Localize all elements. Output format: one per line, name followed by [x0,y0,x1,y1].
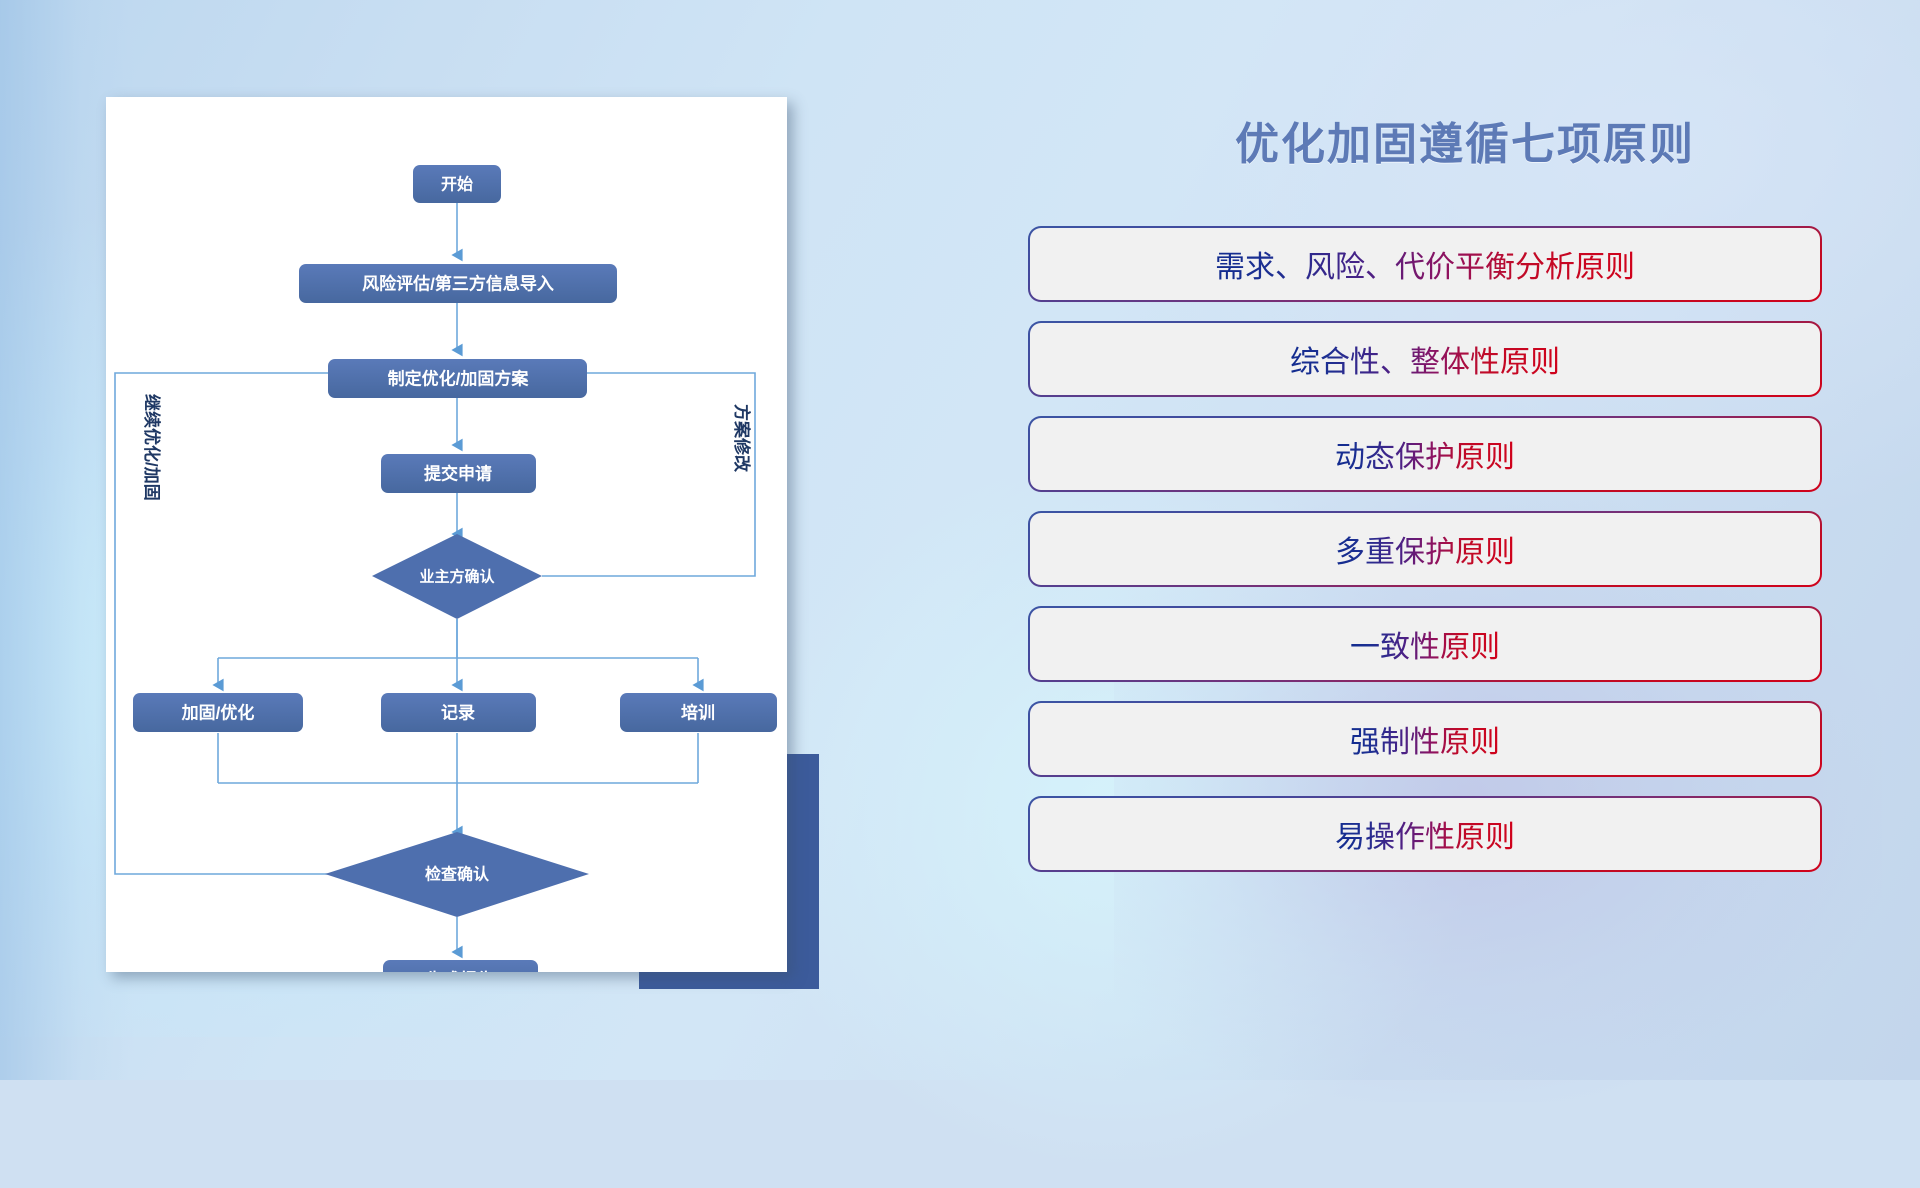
flow-node-make-plan: 制定优化/加固方案 [328,359,587,398]
svg-text:开始: 开始 [441,175,473,194]
principle-item[interactable]: 多重保护原则 [1030,513,1820,585]
flow-edge-label-revise: 方案修改 [732,404,752,473]
svg-text:风险评估/第三方信息导入: 风险评估/第三方信息导入 [362,274,554,294]
principle-label: 易操作性原则 [1335,812,1515,856]
principle-item[interactable]: 强制性原则 [1030,703,1820,775]
flow-node-reinforce-optimize: 加固/优化 [133,693,303,732]
principle-item[interactable]: 易操作性原则 [1030,798,1820,870]
principle-label: 需求、风险、代价平衡分析原则 [1215,242,1635,286]
principle-item[interactable]: 综合性、整体性原则 [1030,323,1820,395]
flowchart-card: 开始 风险评估/第三方信息导入 制定优化/加固方案 提交申请 业主方确认 加固/… [106,97,787,972]
flowchart-diagram: 开始 风险评估/第三方信息导入 制定优化/加固方案 提交申请 业主方确认 加固/… [106,97,787,972]
flow-node-owner-confirm: 业主方确认 [372,534,542,619]
principle-label: 强制性原则 [1350,717,1500,761]
svg-text:提交申请: 提交申请 [424,464,492,484]
principle-label: 多重保护原则 [1335,527,1515,571]
flow-node-training: 培训 [620,693,777,732]
principle-item[interactable]: 一致性原则 [1030,608,1820,680]
flow-node-start: 开始 [413,165,501,203]
svg-text:生成报告: 生成报告 [426,970,494,973]
flow-node-submit-application: 提交申请 [381,454,536,493]
flow-node-risk-assessment: 风险评估/第三方信息导入 [299,264,617,303]
svg-text:业主方确认: 业主方确认 [419,568,495,586]
principle-label: 综合性、整体性原则 [1290,337,1560,381]
panel-title: 优化加固遵循七项原则 [1010,108,1920,172]
svg-text:检查确认: 检查确认 [425,865,490,884]
principles-list: 需求、风险、代价平衡分析原则 综合性、整体性原则 动态保护原则 多重保护原则 一… [1030,228,1820,893]
flow-edge-label-continue: 继续优化/加固 [142,394,162,501]
principle-label: 动态保护原则 [1335,432,1515,476]
svg-text:加固/优化: 加固/优化 [181,703,255,723]
flow-node-record: 记录 [381,693,536,732]
flow-node-generate-report: 生成报告 [383,960,538,972]
principles-panel: 优化加固遵循七项原则 需求、风险、代价平衡分析原则 综合性、整体性原则 动态保护… [1010,0,1920,1080]
principle-label: 一致性原则 [1350,622,1500,666]
svg-text:制定优化/加固方案: 制定优化/加固方案 [388,369,530,389]
principle-item[interactable]: 动态保护原则 [1030,418,1820,490]
flow-node-inspect-confirm: 检查确认 [325,832,589,917]
principle-item[interactable]: 需求、风险、代价平衡分析原则 [1030,228,1820,300]
svg-text:培训: 培训 [681,703,715,723]
svg-text:记录: 记录 [441,704,475,723]
